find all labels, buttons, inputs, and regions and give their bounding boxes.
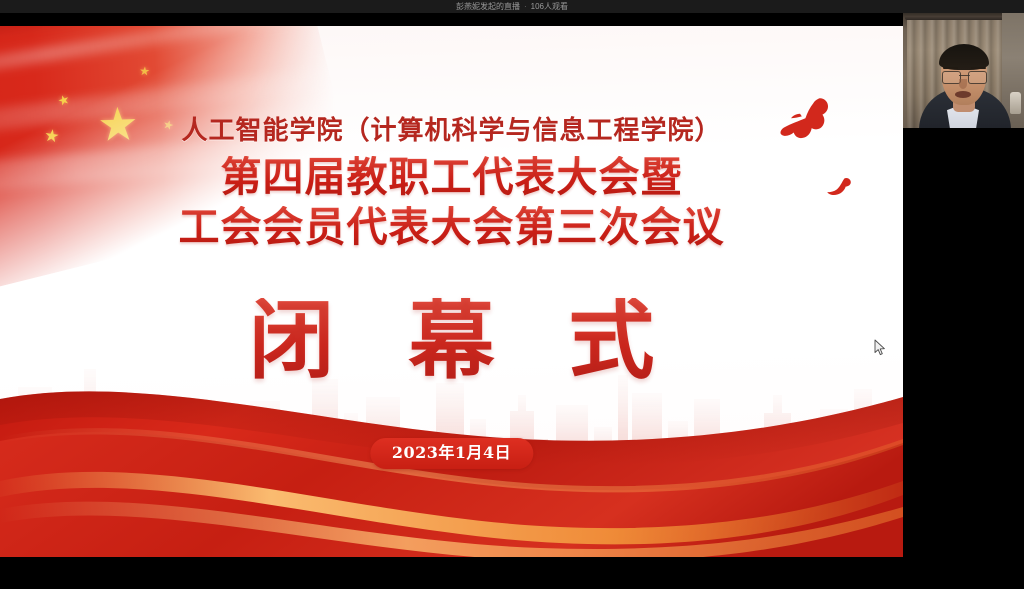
stream-status-text: 彭燕妮发起的直播 · 106人观看: [456, 2, 568, 11]
slide-date-badge: 2023年1月4日: [370, 438, 533, 469]
stream-status-separator: ·: [524, 2, 527, 11]
stream-host-label: 彭燕妮发起的直播: [456, 2, 520, 11]
slide-text-content: 人工智能学院（计算机科学与信息工程学院） 第四届教职工代表大会暨 工会会员代表大…: [0, 26, 903, 557]
video-frame: [903, 11, 1024, 128]
slide-headline: 闭 幕 式: [0, 298, 903, 384]
stream-viewer-count: 106人观看: [531, 2, 568, 11]
live-stream-window: 彭燕妮发起的直播 · 106人观看 ★ ★ ★ ★ ★: [0, 0, 1024, 589]
slide-title-line-2: 工会会员代表大会第三次会议: [0, 206, 903, 249]
shared-slide[interactable]: ★ ★ ★ ★ ★: [0, 26, 903, 557]
slide-subheading: 人工智能学院（计算机科学与信息工程学院）: [0, 110, 903, 147]
speaker-video-tile[interactable]: [903, 11, 1024, 128]
slide-title-line-1: 第四届教职工代表大会暨: [0, 156, 903, 199]
stream-status-bar: 彭燕妮发起的直播 · 106人观看: [0, 0, 1024, 13]
lamp-object: [1010, 92, 1021, 114]
